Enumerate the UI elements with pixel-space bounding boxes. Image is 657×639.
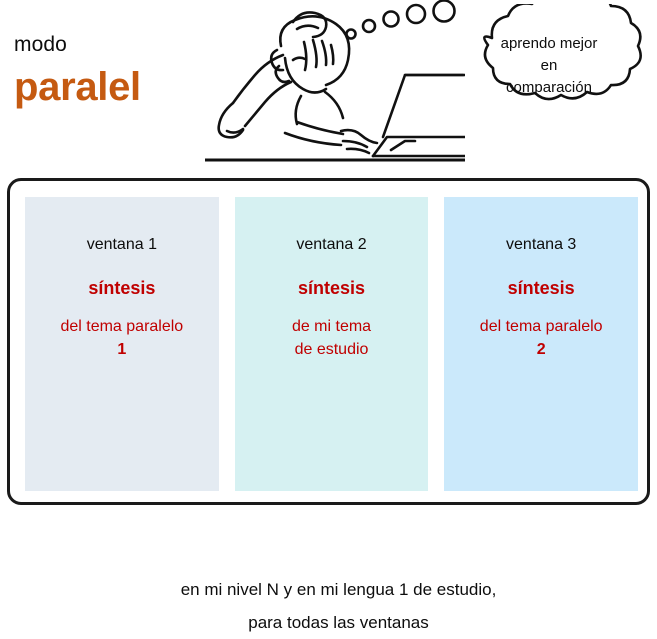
window-columns: ventana 1 síntesis del tema paralelo 1 v…	[25, 197, 638, 491]
window-description-3: del tema paralelo 2	[444, 315, 638, 361]
synthesis-label-1: síntesis	[25, 277, 219, 299]
window-description-1-line-2: 1	[25, 338, 219, 361]
synthesis-label-3: síntesis	[444, 277, 638, 299]
synthesis-label-2: síntesis	[235, 277, 429, 299]
header: modo paralel	[0, 0, 657, 178]
parallel-mode-panel: ventana 1 síntesis del tema paralelo 1 v…	[7, 178, 650, 505]
window-label-2: ventana 2	[235, 235, 429, 255]
thought-bubble-text: aprendo mejor en comparación	[470, 33, 628, 99]
panel-caption: en mi nivel N y en mi lengua 1 de estudi…	[32, 573, 645, 639]
window-label-1: ventana 1	[25, 235, 219, 255]
window-column-3: ventana 3 síntesis del tema paralelo 2	[444, 197, 638, 491]
panel-caption-line-1: en mi nivel N y en mi lengua 1 de estudi…	[32, 573, 645, 606]
window-column-2: ventana 2 síntesis de mi tema de estudio	[235, 197, 429, 491]
page-title-prefix: modo	[14, 32, 224, 58]
window-description-2-line-1: de mi tema	[235, 315, 429, 338]
thought-bubble-line-2: en	[470, 55, 628, 77]
window-description-2: de mi tema de estudio	[235, 315, 429, 361]
page-title: paralel	[14, 64, 224, 110]
window-description-3-line-1: del tema paralelo	[444, 315, 638, 338]
window-label-3: ventana 3	[444, 235, 638, 255]
person-studying-at-laptop-illustration	[205, 0, 465, 180]
thought-bubble-line-3: comparación	[470, 77, 628, 99]
panel-caption-line-2: para todas las ventanas	[32, 606, 645, 639]
window-description-2-line-2: de estudio	[235, 338, 429, 361]
window-column-1: ventana 1 síntesis del tema paralelo 1	[25, 197, 219, 491]
title-block: modo paralel	[14, 32, 224, 110]
thought-bubble-line-1: aprendo mejor	[470, 33, 628, 55]
window-description-1: del tema paralelo 1	[25, 315, 219, 361]
window-description-1-line-1: del tema paralelo	[25, 315, 219, 338]
window-description-3-line-2: 2	[444, 338, 638, 361]
